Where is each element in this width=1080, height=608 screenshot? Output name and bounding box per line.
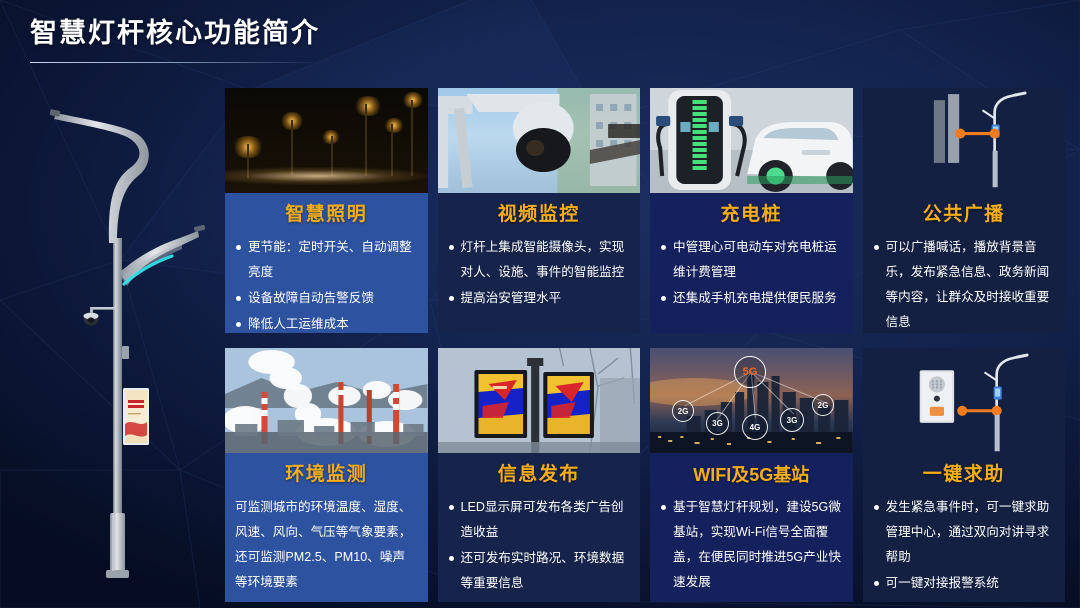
- card-title: 信息发布: [448, 462, 631, 488]
- card-title: 充电桩: [660, 202, 843, 228]
- bullet-item: 灯杆上集成智能摄像头，实现对人、设施、事件的智能监控: [448, 235, 631, 285]
- title-block: 智慧灯杆核心功能简介: [30, 14, 650, 63]
- card-bullets: 更节能：定时开关、自动调整亮度 设备故障自动告警反馈 降低人工运维成本: [235, 235, 418, 333]
- card-media-led-billboard: [438, 348, 641, 453]
- dome-camera: [84, 307, 117, 326]
- card-bullets: 发生紧急事件时，可一键求助管理中心，通过双向对讲寻求帮助 可一键对接报警系统: [873, 495, 1056, 597]
- bullet-item: 还可发布实时路况、环境数据等重要信息: [448, 546, 631, 596]
- pole-control-box: [122, 346, 129, 359]
- card-title: 环境监测: [235, 462, 418, 488]
- bullet-item: 可监测城市的环境温度、湿度、风速、风向、气压等气象要素，还可监测PM2.5、PM…: [235, 495, 418, 595]
- card-media-dome-camera: [438, 88, 641, 193]
- card-body: 环境监测 可监测城市的环境温度、湿度、风速、风向、气压等气象要素，还可监测PM2…: [225, 453, 428, 602]
- card-environment-monitoring[interactable]: 环境监测 可监测城市的环境温度、湿度、风速、风向、气压等气象要素，还可监测PM2…: [225, 348, 428, 602]
- card-media-city-5g: 5G 2G 3G 4G 3G 2G: [650, 348, 853, 453]
- card-wifi-5g-base-station[interactable]: 5G 2G 3G 4G 3G 2G WIFI及5G基站 基于智慧灯杆规划，建设5…: [650, 348, 853, 602]
- card-bullets: 基于智慧灯杆规划，建设5G微基站，实现Wi-Fi信号全面覆盖，在便民同时推进5G…: [660, 495, 843, 596]
- card-title: 视频监控: [448, 202, 631, 228]
- bullet-item: 中管理心可电动车对充电桩运维计费管理: [660, 235, 843, 285]
- network-node-2g-left: 2G: [672, 400, 694, 422]
- card-body: 智慧照明 更节能：定时开关、自动调整亮度 设备故障自动告警反馈 降低人工运维成本: [225, 193, 428, 333]
- card-one-key-help[interactable]: 一键求助 发生紧急事件时，可一键求助管理中心，通过双向对讲寻求帮助 可一键对接报…: [863, 348, 1066, 602]
- card-body: 充电桩 中管理心可电动车对充电桩运维计费管理 还集成手机充电提供便民服务: [650, 193, 853, 333]
- card-bullets: 灯杆上集成智能摄像头，实现对人、设施、事件的智能监控 提高治安管理水平: [448, 235, 631, 312]
- card-bullets: LED显示屏可发布各类广告创造收益 还可发布实时路况、环境数据等重要信息: [448, 495, 631, 597]
- card-media-night-street: [225, 88, 428, 193]
- card-body: 一键求助 发生紧急事件时，可一键求助管理中心，通过双向对讲寻求帮助 可一键对接报…: [863, 453, 1066, 602]
- smart-lamp-pole-illustration: [20, 88, 225, 600]
- page-title: 智慧灯杆核心功能简介: [30, 14, 650, 52]
- card-media-speaker-pole: [863, 88, 1066, 193]
- curved-lamp-arm: [50, 109, 149, 243]
- network-node-3g-right: 3G: [780, 408, 804, 432]
- bullet-item: 基于智慧灯杆规划，建设5G微基站，实现Wi-Fi信号全面覆盖，在便民同时推进5G…: [660, 495, 843, 595]
- card-smart-lighting[interactable]: 智慧照明 更节能：定时开关、自动调整亮度 设备故障自动告警反馈 降低人工运维成本: [225, 88, 428, 333]
- speaker-pole-illustration: [863, 88, 1066, 193]
- card-media-ev-charging: [650, 88, 853, 193]
- feature-card-grid: 智慧照明 更节能：定时开关、自动调整亮度 设备故障自动告警反馈 降低人工运维成本: [225, 88, 1065, 602]
- card-body: 视频监控 灯杆上集成智能摄像头，实现对人、设施、事件的智能监控 提高治安管理水平: [438, 193, 641, 333]
- card-bullets: 中管理心可电动车对充电桩运维计费管理 还集成手机充电提供便民服务: [660, 235, 843, 312]
- bullet-item: 可以广播喊话，播放背景音乐，发布紧急信息、政务新闻等内容，让群众及时接收重要信息: [873, 235, 1056, 333]
- emergency-call-box-illustration: [863, 348, 1066, 453]
- card-charging-pile[interactable]: 充电桩 中管理心可电动车对充电桩运维计费管理 还集成手机充电提供便民服务: [650, 88, 853, 333]
- bullet-item: LED显示屏可发布各类广告创造收益: [448, 495, 631, 545]
- bullet-item: 发生紧急事件时，可一键求助管理中心，通过双向对讲寻求帮助: [873, 495, 1056, 570]
- bullet-item: 可一键对接报警系统: [873, 571, 1056, 596]
- card-media-factory: [225, 348, 428, 453]
- card-body: WIFI及5G基站 基于智慧灯杆规划，建设5G微基站，实现Wi-Fi信号全面覆盖…: [650, 453, 853, 602]
- bullet-item: 设备故障自动告警反馈: [235, 286, 418, 311]
- card-title: 公共广播: [873, 202, 1056, 228]
- card-title: 智慧照明: [235, 202, 418, 228]
- card-video-surveillance[interactable]: 视频监控 灯杆上集成智能摄像头，实现对人、设施、事件的智能监控 提高治安管理水平: [438, 88, 641, 333]
- bullet-item: 还集成手机充电提供便民服务: [660, 286, 843, 311]
- bullet-item: 提高治安管理水平: [448, 286, 631, 311]
- network-node-5g: 5G: [734, 356, 766, 388]
- card-media-emergency-call-box: [863, 348, 1066, 453]
- network-node-3g-left: 3G: [706, 412, 729, 435]
- card-body: 公共广播 可以广播喊话，播放背景音乐，发布紧急信息、政务新闻等内容，让群众及时接…: [863, 193, 1066, 333]
- card-bullets: 可以广播喊话，播放背景音乐，发布紧急信息、政务新闻等内容，让群众及时接收重要信息: [873, 235, 1056, 333]
- bullet-item: 更节能：定时开关、自动调整亮度: [235, 235, 418, 285]
- network-node-4g: 4G: [742, 414, 768, 440]
- card-information-release[interactable]: 信息发布 LED显示屏可发布各类广告创造收益 还可发布实时路况、环境数据等重要信…: [438, 348, 641, 602]
- advertising-panel: [123, 388, 149, 445]
- card-public-broadcast[interactable]: 公共广播 可以广播喊话，播放背景音乐，发布紧急信息、政务新闻等内容，让群众及时接…: [863, 88, 1066, 333]
- network-node-2g-right: 2G: [812, 394, 834, 416]
- led-light-arm: [119, 225, 206, 286]
- card-title: 一键求助: [873, 462, 1056, 488]
- card-bullets: 可监测城市的环境温度、湿度、风速、风向、气压等气象要素，还可监测PM2.5、PM…: [235, 495, 418, 596]
- bullet-item: 降低人工运维成本: [235, 312, 418, 333]
- card-title: WIFI及5G基站: [660, 462, 843, 488]
- card-body: 信息发布 LED显示屏可发布各类广告创造收益 还可发布实时路况、环境数据等重要信…: [438, 453, 641, 602]
- title-underline: [30, 62, 320, 63]
